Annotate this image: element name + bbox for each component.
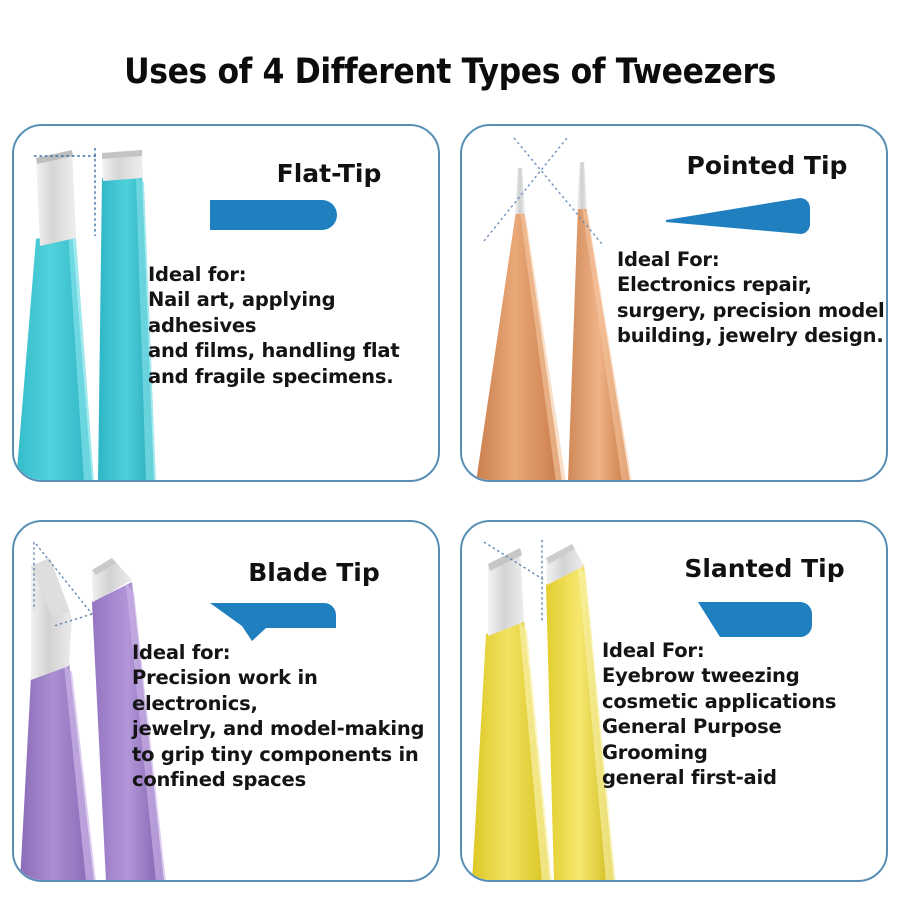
panel-flat-tip: Flat-Tip Ideal for: Nail art, applying a… bbox=[12, 124, 440, 482]
panel-pointed-tip: Pointed Tip Ideal For: Electronics repai… bbox=[460, 124, 888, 482]
pointed-tip-profile-shape bbox=[662, 188, 822, 238]
blade-tip-profile-shape bbox=[206, 594, 356, 644]
page-title: Uses of 4 Different Types of Tweezers bbox=[0, 52, 900, 92]
panel-blade-tip: Blade Tip Ideal for: Precision work in e… bbox=[12, 520, 440, 882]
description-slanted-tip: Eyebrow tweezing cosmetic applications G… bbox=[602, 663, 886, 791]
panel-slanted-tip: Slanted Tip Ideal For: Eyebrow tweezing … bbox=[460, 520, 888, 882]
description-pointed-tip: Electronics repair, surgery, precision m… bbox=[617, 272, 885, 349]
description-flat-tip: Nail art, applying adhesives and films, … bbox=[148, 287, 438, 389]
panel-title-blade-tip: Blade Tip bbox=[204, 558, 424, 587]
ideal-label-slanted-tip: Ideal For: bbox=[602, 638, 704, 664]
ideal-label-flat-tip: Ideal for: bbox=[148, 262, 246, 288]
ideal-label-pointed-tip: Ideal For: bbox=[617, 247, 719, 273]
description-blade-tip: Precision work in electronics, jewelry, … bbox=[132, 665, 424, 793]
panel-title-flat-tip: Flat-Tip bbox=[219, 159, 439, 188]
slanted-tip-profile-shape bbox=[658, 592, 823, 642]
panel-title-slanted-tip: Slanted Tip bbox=[652, 554, 877, 583]
flat-tip-profile-shape bbox=[210, 196, 350, 236]
infographic-root: Uses of 4 Different Types of Tweezers bbox=[0, 0, 900, 900]
panel-title-pointed-tip: Pointed Tip bbox=[657, 151, 877, 180]
ideal-label-blade-tip: Ideal for: bbox=[132, 640, 230, 666]
